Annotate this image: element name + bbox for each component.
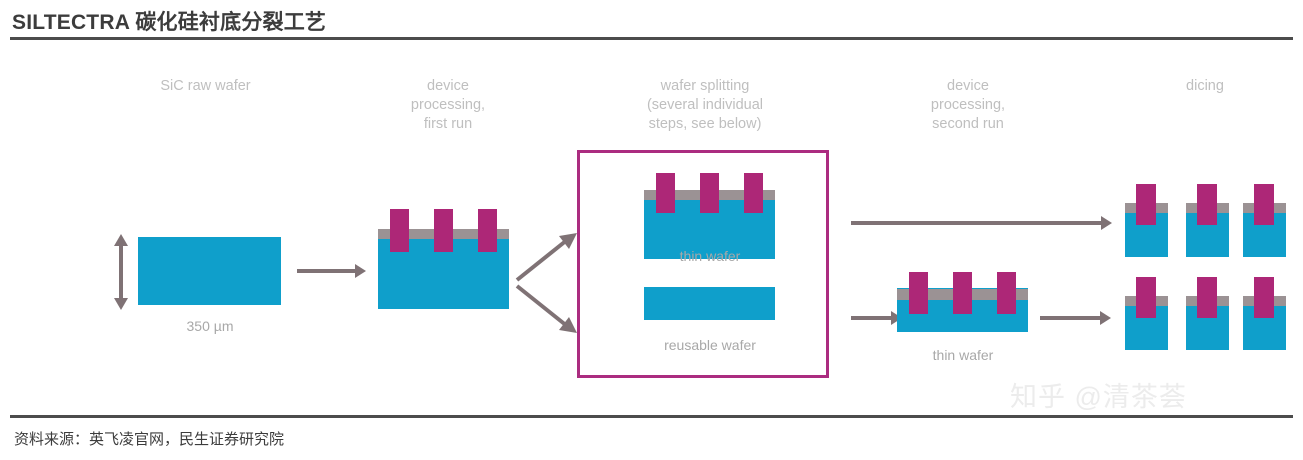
device-block <box>434 209 453 252</box>
reusable-wafer-label: reusable wafer <box>615 337 805 353</box>
watermark: 知乎 @清茶荟 <box>1010 375 1187 414</box>
device-block <box>1136 184 1156 225</box>
device-block <box>656 173 675 213</box>
title-divider <box>10 37 1293 40</box>
device-block <box>744 173 763 213</box>
thin-wafer-label: thin wafer <box>620 248 800 264</box>
device-block <box>1197 184 1217 225</box>
footer-divider <box>10 415 1293 418</box>
stage-caption-raw-wafer: SiC raw wafer <box>118 77 293 96</box>
device-block <box>390 209 409 252</box>
arrow-split-branch <box>515 228 585 338</box>
stage-caption-dicing: dicing <box>1125 77 1285 96</box>
device-block <box>700 173 719 213</box>
thin-wafer-second-label: thin wafer <box>873 347 1053 363</box>
page-title: SILTECTRA 碳化硅衬底分裂工艺 <box>12 6 326 36</box>
source-note: 资料来源：英飞凌官网，民生证券研究院 <box>14 428 284 449</box>
stage-caption-device-first: device processing, first run <box>368 77 528 134</box>
slide-canvas: SILTECTRA 碳化硅衬底分裂工艺 SiC raw wafer device… <box>0 0 1303 460</box>
thickness-label: 350 µm <box>140 318 280 334</box>
device-block <box>1197 277 1217 318</box>
device-block <box>1136 277 1156 318</box>
stage-caption-wafer-splitting: wafer splitting (several individual step… <box>605 77 805 134</box>
device-block <box>1254 277 1274 318</box>
wafer-body <box>644 287 775 320</box>
device-block <box>1254 184 1274 225</box>
stage-caption-device-second: device processing, second run <box>888 77 1048 134</box>
device-block <box>478 209 497 252</box>
device-block <box>953 272 972 314</box>
raw-wafer-block <box>138 237 281 305</box>
device-block <box>909 272 928 314</box>
device-block <box>997 272 1016 314</box>
thickness-dimension-arrow <box>110 234 132 310</box>
